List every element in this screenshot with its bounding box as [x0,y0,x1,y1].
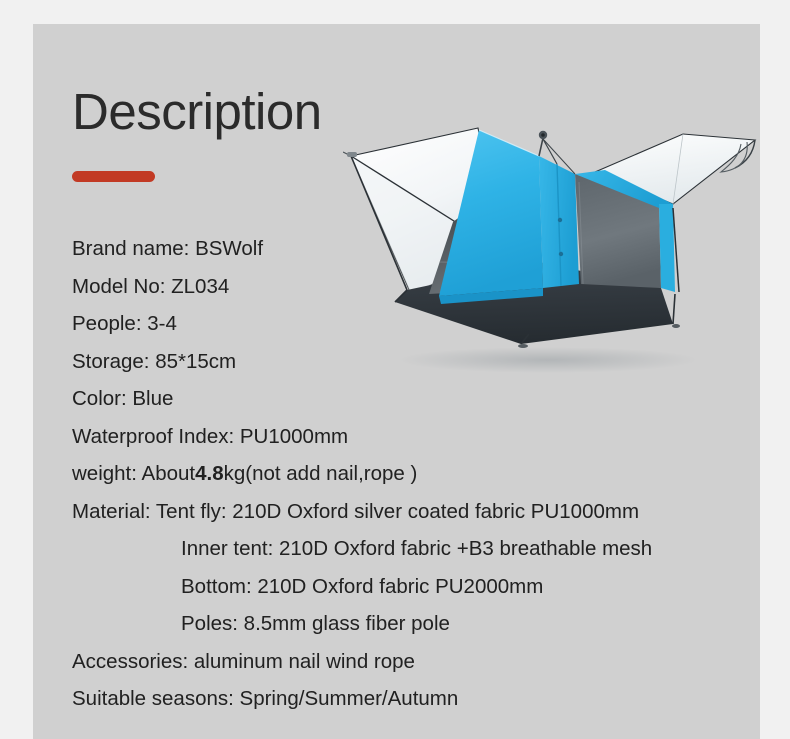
awning-left-tip-clip [347,152,357,157]
awning-left-guyline [343,152,351,156]
spec-people: People: 3-4 [72,305,752,343]
awning-right-guyline-a [735,140,755,168]
spec-color: Color: Blue [72,380,752,418]
spec-accessories: Accessories: aluminum nail wind rope [72,643,752,681]
spec-storage: Storage: 85*15cm [72,343,752,381]
spec-weight-value: 4.8 [195,462,224,485]
spec-waterproof: Waterproof Index: PU1000mm [72,418,752,456]
awning-right-guyline-loop [721,142,747,172]
spec-model: Model No: ZL034 [72,268,752,306]
spec-weight-suffix: kg(not add nail,rope ) [224,462,418,485]
product-description-page: Description [0,0,790,739]
zipper-pull-upper [558,218,562,222]
spec-poles: Poles: 8.5mm glass fiber pole [72,605,752,643]
spec-bottom: Bottom: 210D Oxford fabric PU2000mm [72,568,752,606]
spec-inner-tent: Inner tent: 210D Oxford fabric +B3 breat… [72,530,752,568]
page-title: Description [72,86,322,137]
spec-weight-prefix: weight: About [72,462,195,485]
spec-seasons: Suitable seasons: Spring/Summer/Autumn [72,680,752,718]
specification-list: Brand name: BSWolf Model No: ZL034 Peopl… [72,230,752,718]
tent-apex-hub [539,131,575,174]
description-panel: Description [33,24,760,739]
title-accent-bar [72,171,155,182]
awning-right-panel [595,134,755,204]
canopy-right-roof [575,170,673,208]
canopy-ridge-highlight [479,130,539,156]
spec-weight: weight: About4.8kg(not add nail,rope ) [72,455,752,493]
awning-right-seam [673,134,683,204]
spec-brand: Brand name: BSWolf [72,230,752,268]
spec-material: Material: Tent fly: 210D Oxford silver c… [72,493,752,531]
